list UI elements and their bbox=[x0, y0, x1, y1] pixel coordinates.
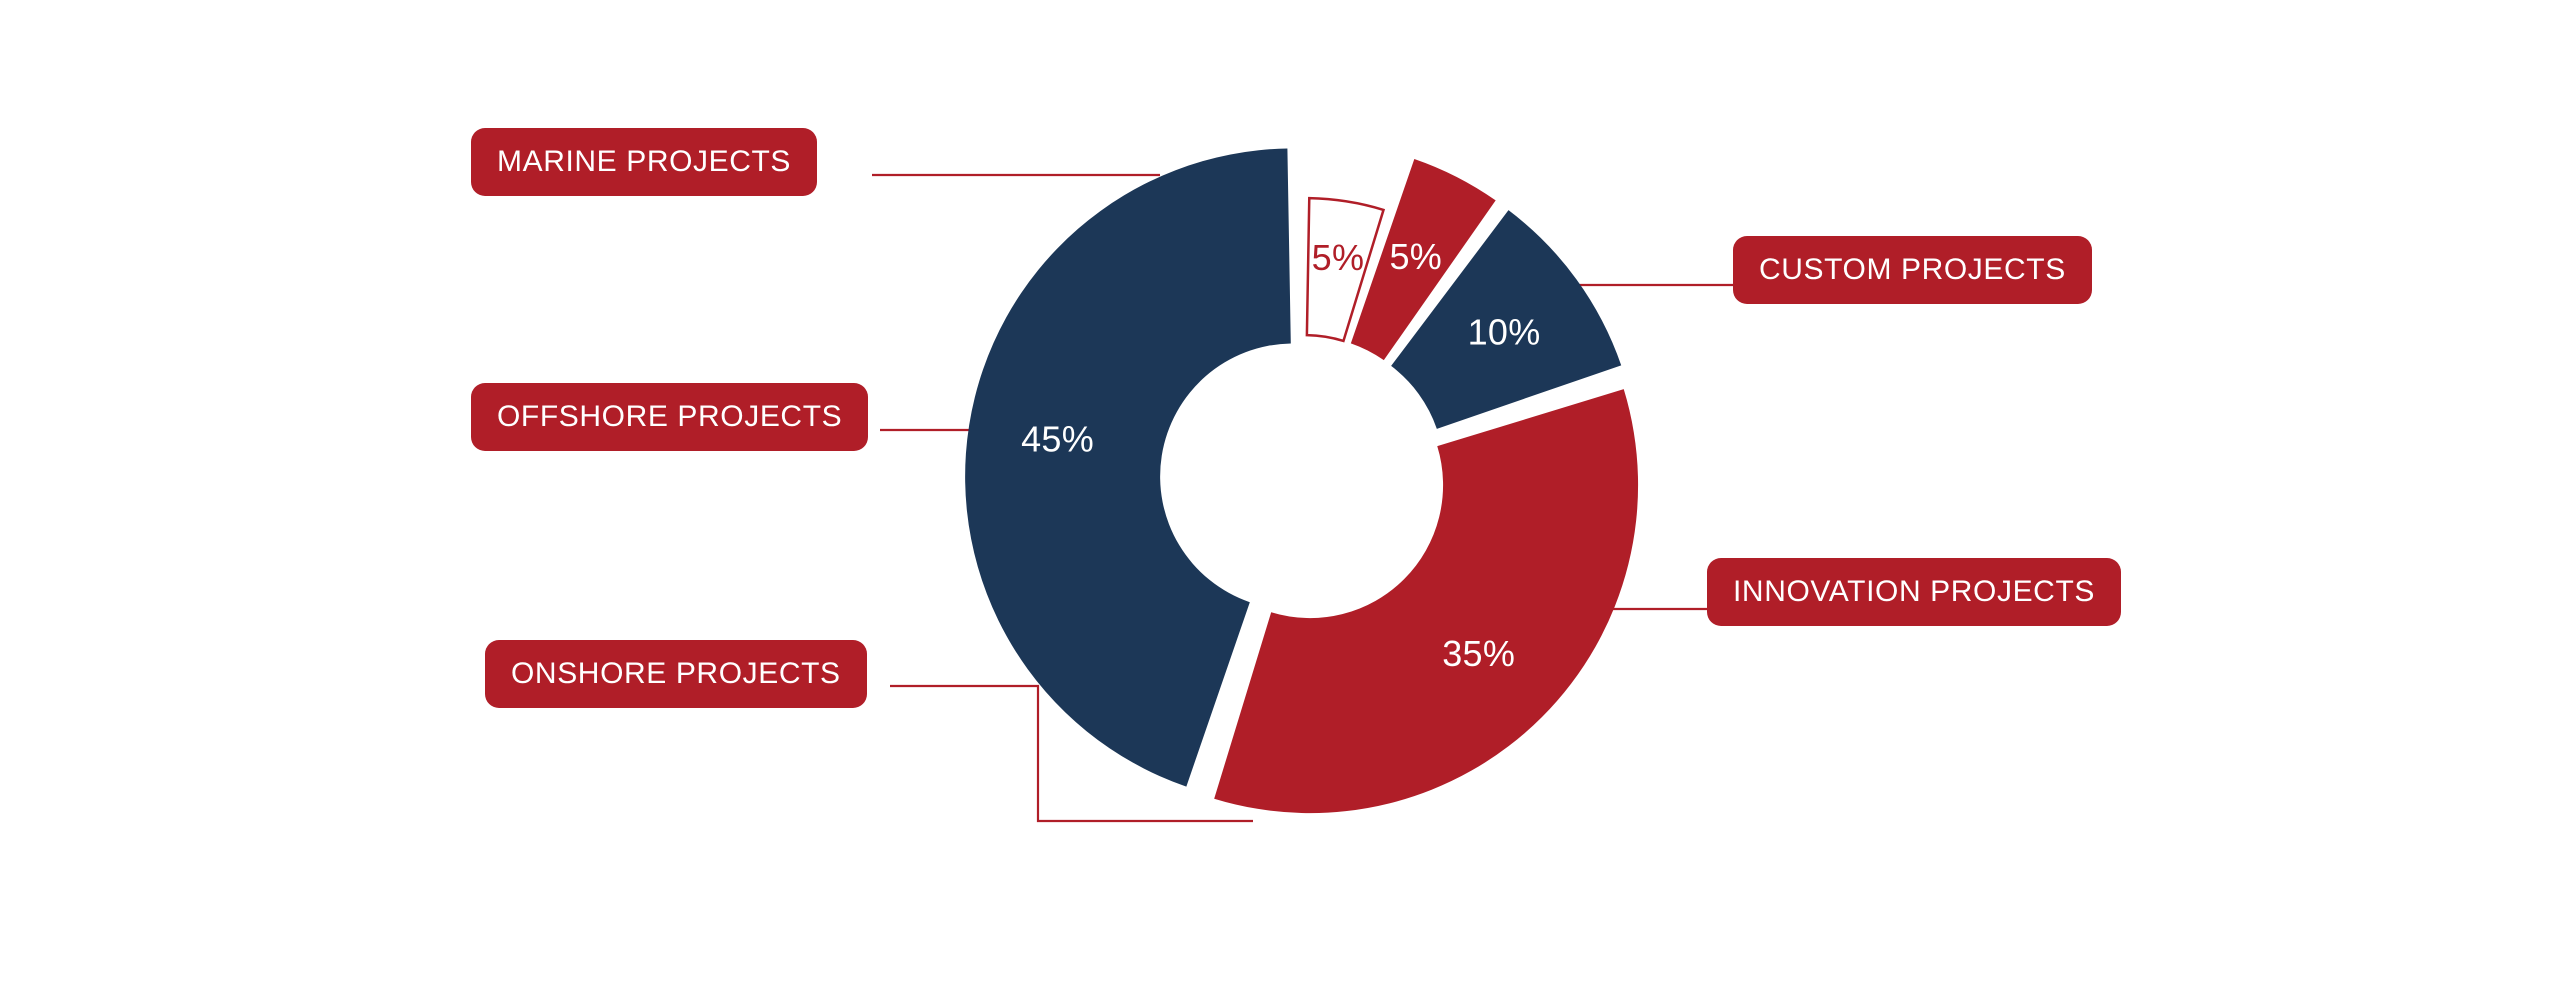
chart-canvas: 5%5%10%35%45% MARINE PROJECTS OFFSHORE P… bbox=[0, 0, 2560, 990]
callout-offshore-label: OFFSHORE PROJECTS bbox=[497, 400, 842, 434]
slice-percent-onshore: 10% bbox=[1468, 311, 1541, 352]
callout-onshore-projects[interactable]: ONSHORE PROJECTS bbox=[485, 640, 867, 708]
donut-slice-offshore[interactable] bbox=[1214, 389, 1638, 813]
slice-percent-innovation: 5% bbox=[1389, 236, 1442, 277]
callout-offshore-projects[interactable]: OFFSHORE PROJECTS bbox=[471, 383, 868, 451]
callout-custom-label: CUSTOM PROJECTS bbox=[1759, 253, 2066, 287]
callout-innovation-projects[interactable]: INNOVATION PROJECTS bbox=[1707, 558, 2121, 626]
donut-slices bbox=[965, 148, 1638, 813]
callout-marine-label: MARINE PROJECTS bbox=[497, 145, 791, 179]
slice-percent-offshore: 35% bbox=[1442, 633, 1515, 674]
callout-onshore-label: ONSHORE PROJECTS bbox=[511, 657, 841, 691]
slice-percent-marine: 45% bbox=[1021, 419, 1094, 460]
donut-chart: 5%5%10%35%45% bbox=[0, 0, 2560, 990]
callout-custom-projects[interactable]: CUSTOM PROJECTS bbox=[1733, 236, 2092, 304]
slice-percent-custom: 5% bbox=[1312, 237, 1365, 278]
callout-innovation-label: INNOVATION PROJECTS bbox=[1733, 575, 2095, 609]
donut-slice-marine[interactable] bbox=[965, 148, 1291, 786]
callout-marine-projects[interactable]: MARINE PROJECTS bbox=[471, 128, 817, 196]
